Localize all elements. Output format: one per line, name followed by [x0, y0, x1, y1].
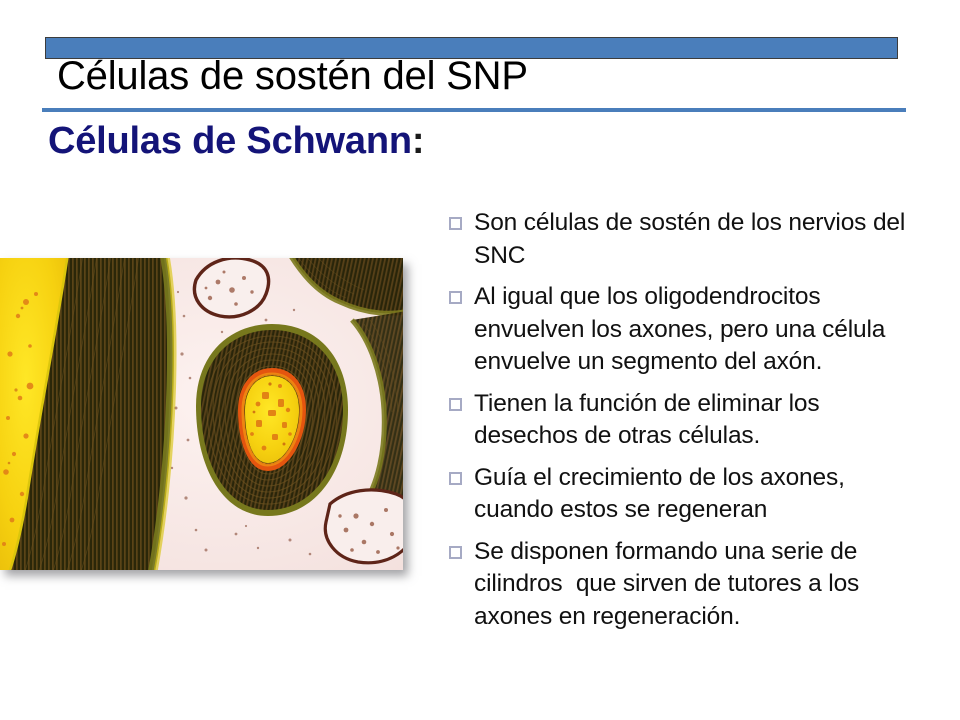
list-item-text: Tienen la función de eliminar los desech… — [474, 388, 919, 453]
list-item-text: Se disponen formando una serie de cilind… — [474, 536, 919, 634]
list-item: Se disponen formando una serie de cilind… — [449, 536, 919, 634]
list-item: Son células de sostén de los nervios del… — [449, 207, 919, 272]
list-item-text: Son células de sostén de los nervios del… — [474, 207, 919, 272]
open-square-bullet-icon — [449, 217, 462, 230]
open-square-bullet-icon — [449, 398, 462, 411]
title-divider — [42, 108, 906, 112]
electron-micrograph-image — [0, 258, 403, 570]
list-item: Al igual que los oligodendrocitos envuel… — [449, 281, 919, 379]
list-item: Tienen la función de eliminar los desech… — [449, 388, 919, 453]
list-item-text: Al igual que los oligodendrocitos envuel… — [474, 281, 919, 379]
list-item-text: Guía el crecimiento de los axones, cuand… — [474, 462, 919, 527]
open-square-bullet-icon — [449, 546, 462, 559]
page-title: Células de sostén del SNP — [57, 52, 917, 100]
slide-subtitle: Células de Schwann: — [48, 118, 424, 164]
list-item: Guía el crecimiento de los axones, cuand… — [449, 462, 919, 527]
bullet-list: Son células de sostén de los nervios del… — [449, 207, 919, 642]
subtitle-label: Células de Schwann — [48, 120, 412, 162]
slide-canvas: Células de sostén del SNP Células de Sch… — [0, 0, 960, 720]
open-square-bullet-icon — [449, 291, 462, 304]
open-square-bullet-icon — [449, 472, 462, 485]
subtitle-colon: : — [412, 120, 424, 162]
